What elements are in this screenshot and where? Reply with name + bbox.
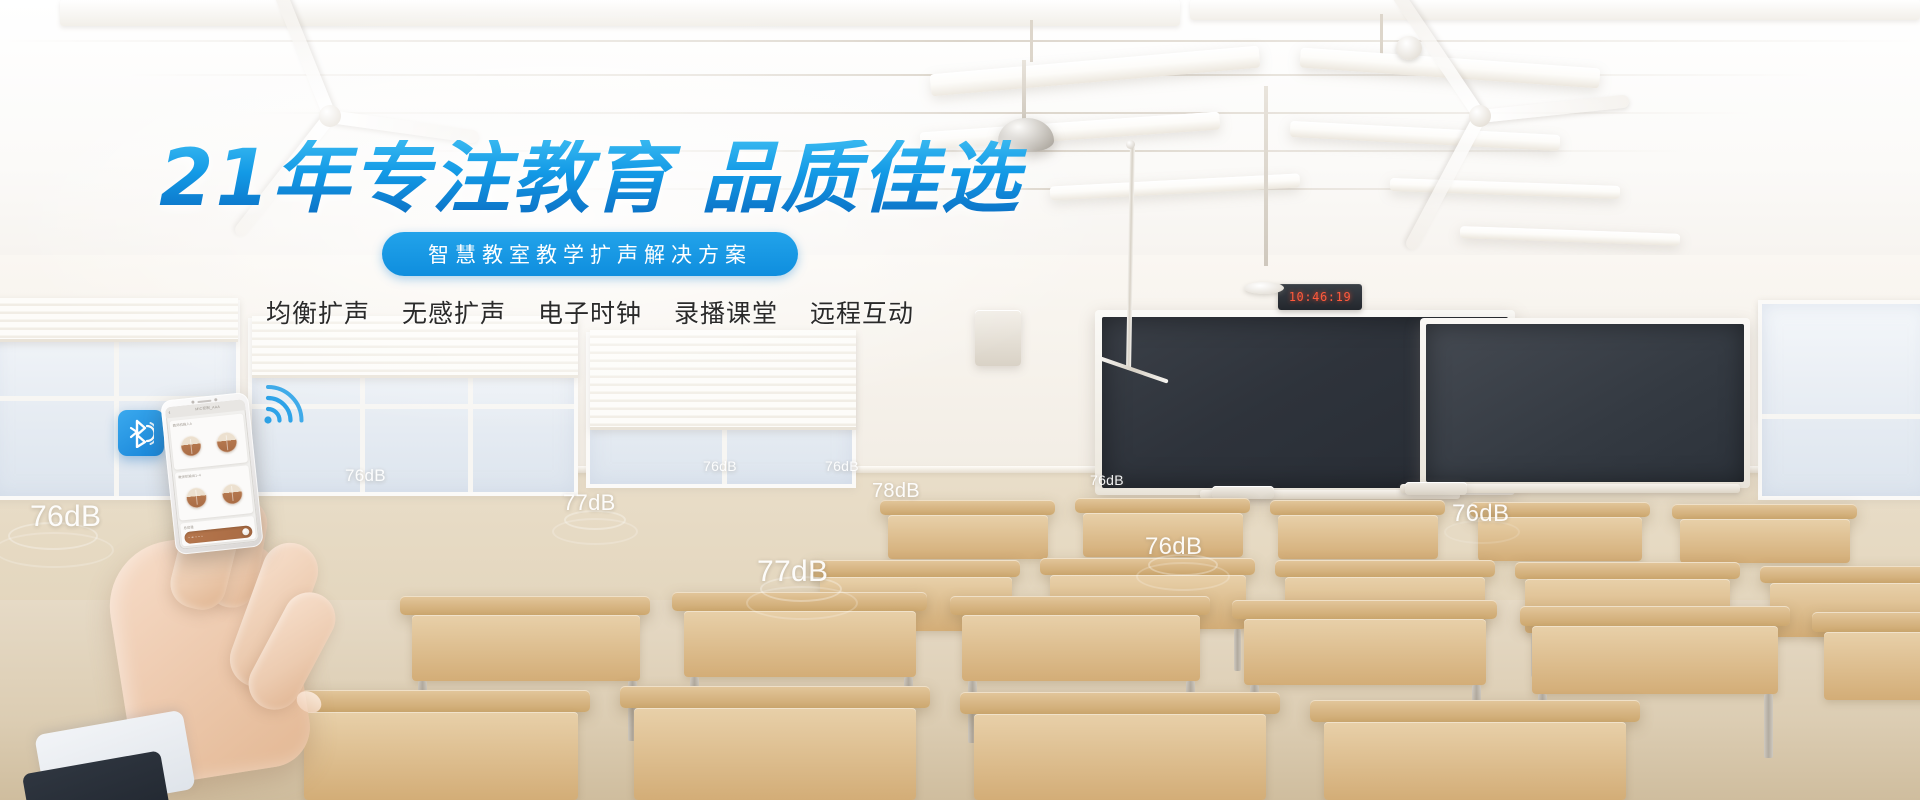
db-marker: 77dB xyxy=(563,490,616,516)
desk-panel xyxy=(1680,519,1850,563)
subtitle-pill: 智慧教室教学扩声解决方案 xyxy=(382,232,798,276)
blackboard-right xyxy=(1420,318,1750,488)
knob-row xyxy=(173,422,245,467)
speaker-rod xyxy=(1022,60,1026,120)
signal-waves xyxy=(262,378,320,426)
bluetooth-badge[interactable] xyxy=(118,410,164,456)
subtitle-pill-row: 智慧教室教学扩声解决方案 xyxy=(0,232,1180,276)
ceiling-panel xyxy=(1190,0,1920,20)
db-marker: 76dB xyxy=(1090,472,1124,488)
sensor-icon xyxy=(214,398,217,401)
wifi-signal-icon xyxy=(262,378,320,426)
slider-ticks xyxy=(189,536,204,539)
db-marker: 76dB xyxy=(703,458,737,474)
knob-row xyxy=(178,473,250,518)
light-stem xyxy=(1030,20,1033,62)
desk-panel xyxy=(974,714,1266,800)
desk xyxy=(620,686,930,708)
desk xyxy=(1812,612,1920,632)
headline-block: 21年专注教育 品质佳选 智慧教室教学扩声解决方案 均衡扩声无感扩声电子时钟录播… xyxy=(0,140,1180,330)
desk xyxy=(1275,560,1495,577)
desk-panel xyxy=(1244,619,1486,685)
desk-panel xyxy=(1324,722,1626,800)
window xyxy=(1758,300,1920,500)
speaker-rod xyxy=(1264,86,1268,266)
desk xyxy=(810,560,1020,577)
clock-time: 10:46:19 xyxy=(1289,290,1352,304)
keyword-item: 无感扩声 xyxy=(402,294,506,330)
ceiling-panel xyxy=(60,0,1180,26)
db-marker: 76dB xyxy=(1145,533,1202,561)
desk xyxy=(1310,700,1640,722)
page-title: 21年专注教育 品质佳选 xyxy=(0,140,1180,218)
db-marker: 76dB xyxy=(825,458,859,474)
desk-leg xyxy=(1764,694,1773,758)
front-camera-icon xyxy=(191,400,194,403)
desk xyxy=(1075,498,1250,513)
desk xyxy=(950,596,1210,615)
phone-screen[interactable]: ‹ MIC控制_AAA 教师机输入A教师机输出1~4总音量 xyxy=(165,399,260,550)
slider-handle[interactable] xyxy=(242,528,250,536)
desk-panel xyxy=(634,708,916,800)
desk xyxy=(1760,566,1920,583)
keyword-row: 均衡扩声无感扩声电子时钟录播课堂远程互动 xyxy=(0,294,1180,330)
desk xyxy=(1672,504,1857,519)
desk xyxy=(1232,600,1497,619)
desk xyxy=(1520,606,1790,626)
desk-panel xyxy=(684,611,916,677)
wall-control-box xyxy=(1405,482,1467,495)
desk xyxy=(960,692,1280,714)
volume-knob[interactable] xyxy=(221,483,243,505)
app-card[interactable]: 教师机输入A xyxy=(169,413,248,469)
keyword-item: 均衡扩声 xyxy=(266,294,370,330)
keyword-item: 电子时钟 xyxy=(538,294,642,330)
app-card[interactable]: 总音量 xyxy=(180,516,256,547)
volume-knob[interactable] xyxy=(216,432,238,454)
ceiling-speaker-plate xyxy=(1244,282,1284,294)
window-blind xyxy=(590,330,856,430)
classroom-banner: 10:46:19 xyxy=(0,0,1920,800)
app-card[interactable]: 教师机输出1~4 xyxy=(175,465,254,521)
db-marker: 77dB xyxy=(757,555,828,589)
smartphone[interactable]: ‹ MIC控制_AAA 教师机输入A教师机输出1~4总音量 xyxy=(160,392,264,555)
volume-knob[interactable] xyxy=(180,435,202,457)
sound-ripple xyxy=(746,586,858,620)
keyword-item: 录播课堂 xyxy=(674,294,778,330)
desk-panel xyxy=(1532,626,1778,694)
ceiling-seam xyxy=(0,40,1920,42)
desk xyxy=(1270,500,1445,515)
db-marker: 78dB xyxy=(872,480,920,503)
desk-panel xyxy=(962,615,1200,681)
desk-leg xyxy=(1234,629,1241,671)
bluetooth-icon xyxy=(128,418,154,448)
volume-knob[interactable] xyxy=(186,486,208,508)
keyword-item: 远程互动 xyxy=(810,294,914,330)
led-clock: 10:46:19 xyxy=(1278,284,1362,310)
desk-panel xyxy=(888,515,1048,559)
back-icon[interactable]: ‹ xyxy=(168,410,171,416)
ceiling-speaker-plate xyxy=(1396,36,1422,60)
desk xyxy=(1515,562,1740,579)
desk-panel xyxy=(1278,515,1438,559)
desk-panel xyxy=(1824,632,1920,700)
db-marker: 76dB xyxy=(1452,500,1509,528)
app-content: 教师机输入A教师机输出1~4总音量 xyxy=(166,410,259,550)
sound-ripple xyxy=(1136,562,1230,591)
sound-ripple xyxy=(552,518,638,545)
